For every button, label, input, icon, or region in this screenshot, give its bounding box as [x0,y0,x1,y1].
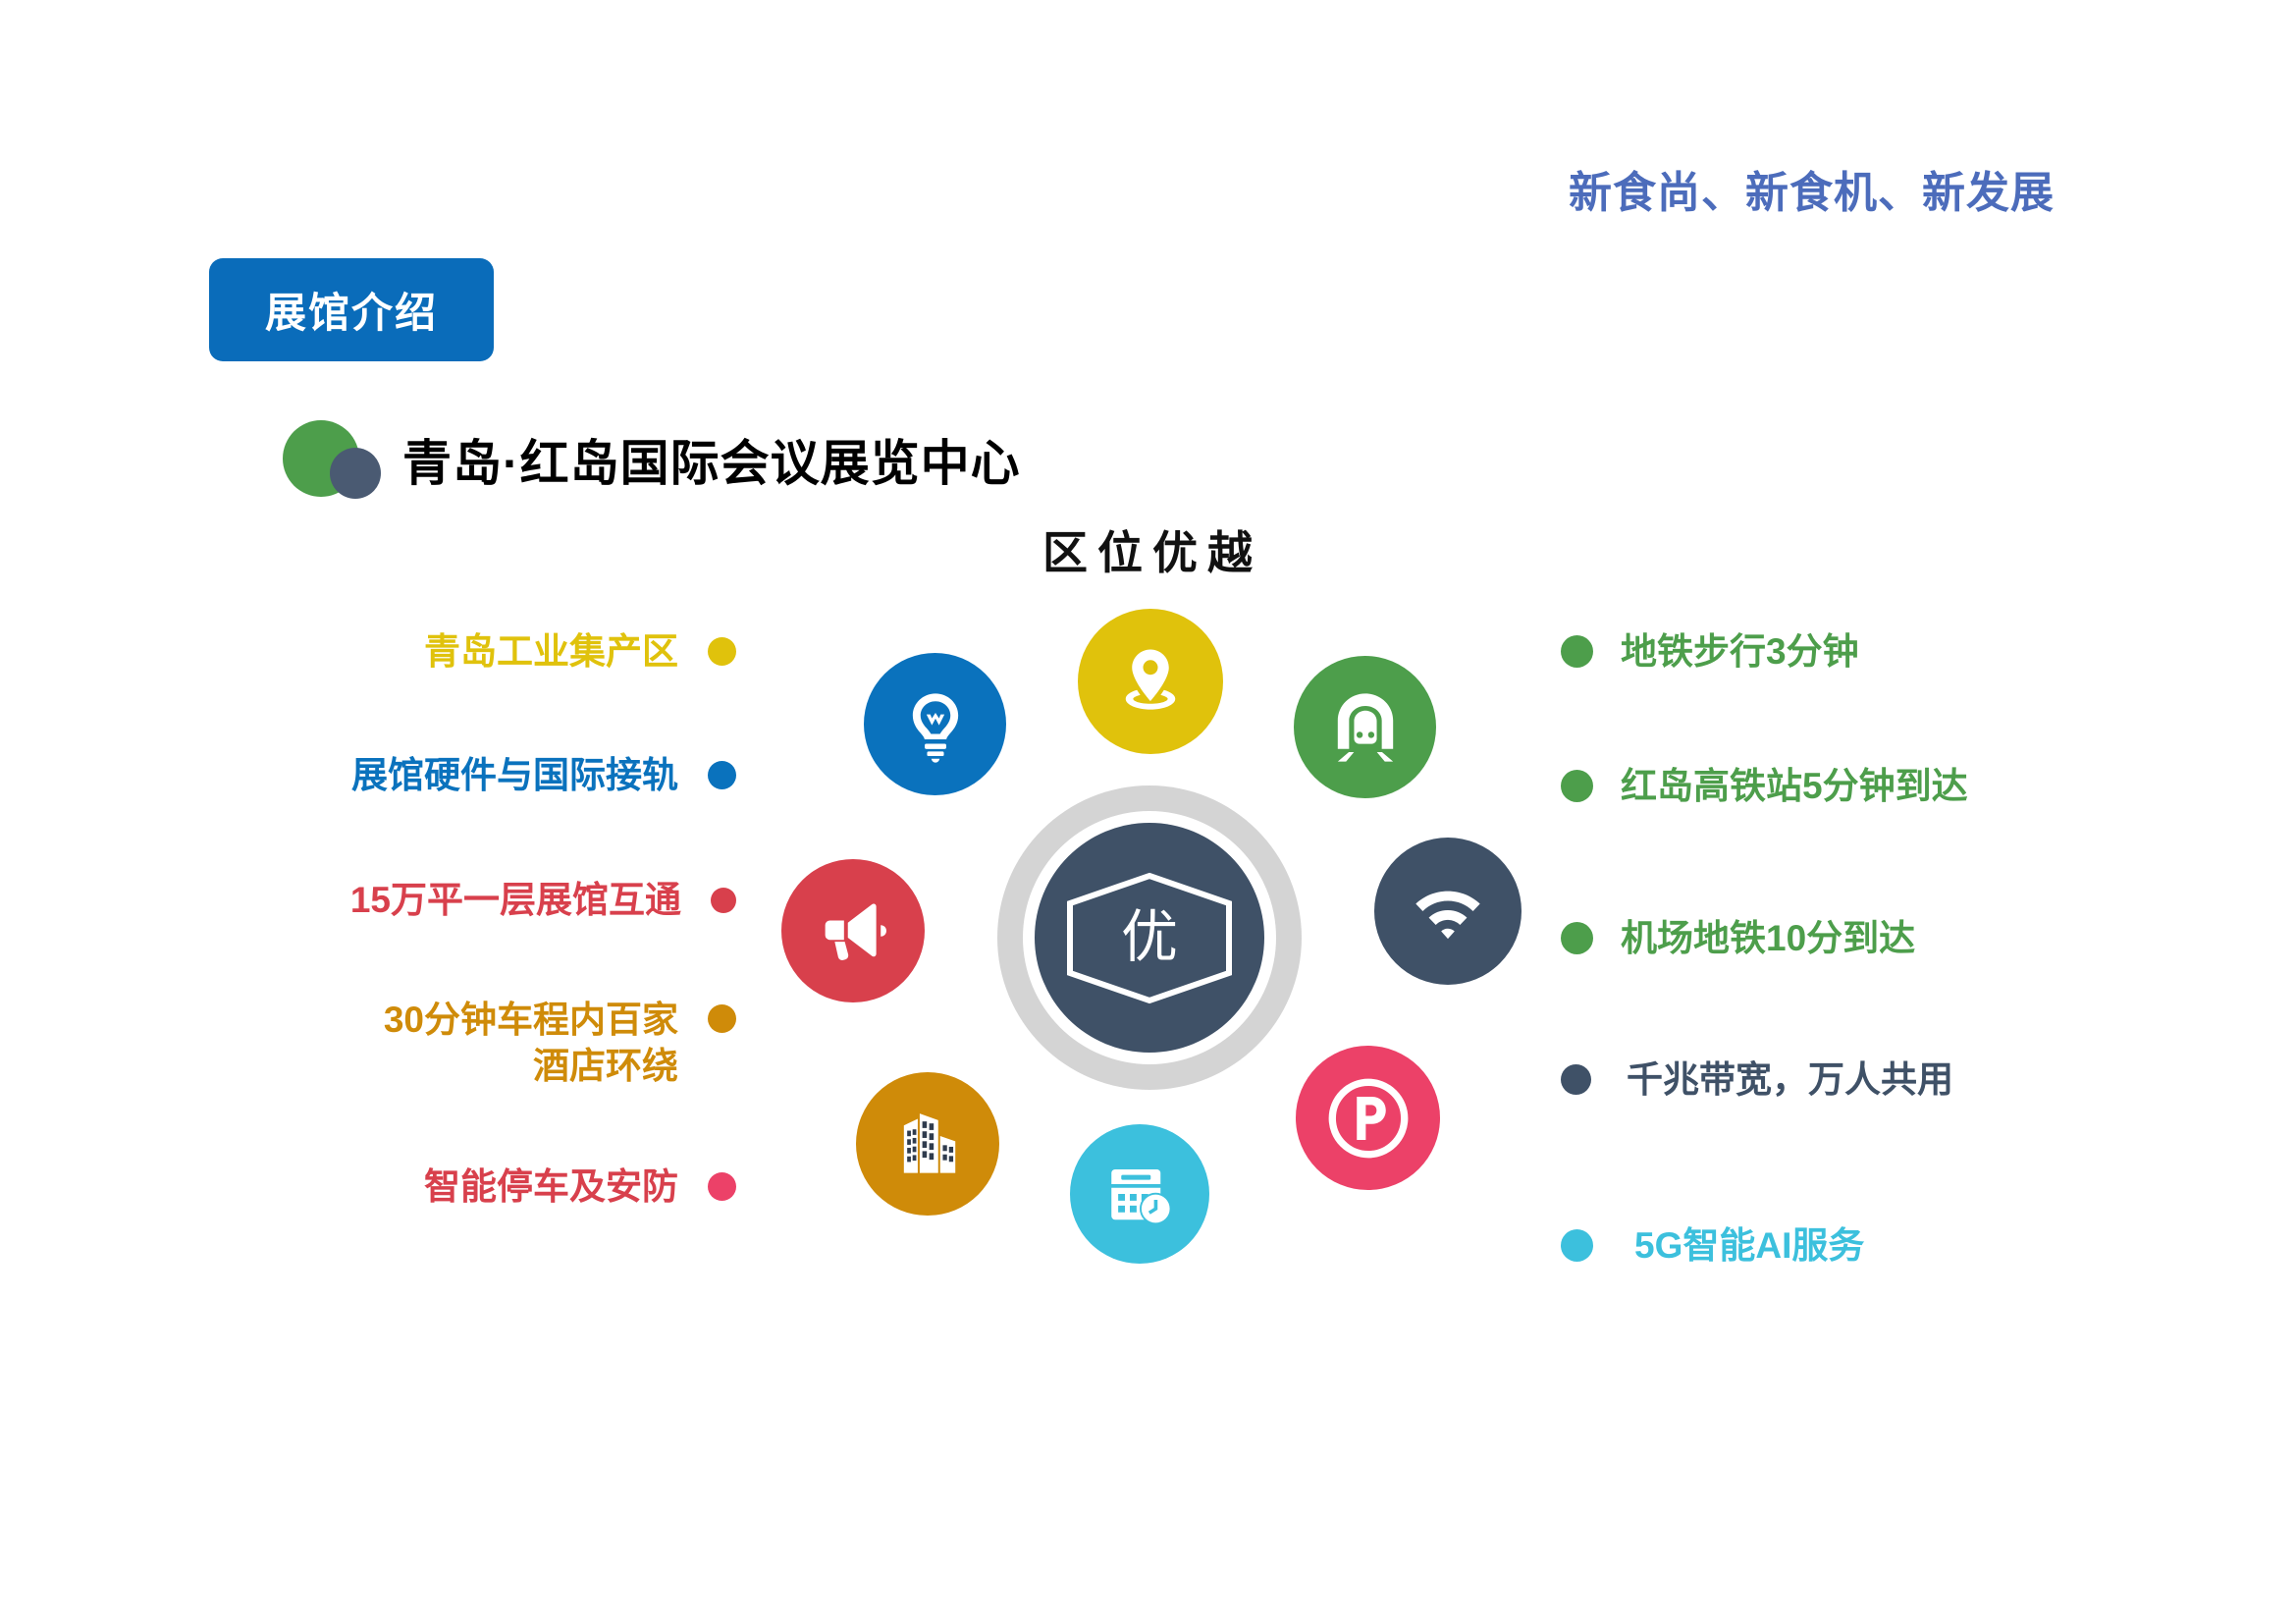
left-item-label-0: 青岛工业集产区 [424,628,678,675]
bullet-dot [1561,922,1593,954]
list-item[interactable]: 千兆带宽，万人共用 [1561,1056,1953,1103]
buildings-icon[interactable] [856,1072,999,1216]
logo-slate-circle [330,448,381,499]
list-item[interactable]: 红岛高铁站5分钟到达 [1561,763,1968,809]
right-item-label-1: 红岛高铁站5分钟到达 [1621,763,1968,809]
lightbulb-icon[interactable] [864,653,1006,795]
page-slogan: 新食尚、新食机、新发展 [1569,157,2055,220]
list-item[interactable]: 青岛工业集产区 [424,628,736,675]
left-item-label-4: 智能停车及安防 [424,1164,678,1210]
list-item[interactable]: 机场地铁10分到达 [1561,915,1915,961]
list-item[interactable]: 5G智能AI服务 [1561,1222,1864,1269]
hexagon-icon: 优 [1066,872,1233,1004]
calendar-clock-icon[interactable] [1070,1124,1209,1264]
location-pin-icon[interactable] [1078,609,1223,754]
bullet-dot [708,637,736,666]
venue-title-row: 青岛·红岛国际会议展览中心 [283,420,1021,499]
left-item-label-3-line1: 30分钟车程内百家 [384,1000,678,1040]
bullet-dot [1561,770,1593,802]
left-item-label-2: 15万平一层展馆互通 [350,877,681,923]
list-item[interactable]: 智能停车及安防 [424,1164,736,1210]
left-item-label-3-line2: 酒店环绕 [533,1046,678,1086]
right-item-label-2: 机场地铁10分到达 [1621,915,1915,961]
right-item-label-4: 5G智能AI服务 [1634,1222,1864,1269]
hub-core-circle: 优 [1035,823,1264,1053]
metro-train-icon[interactable] [1294,656,1436,798]
right-item-label-0: 地铁步行3分钟 [1621,628,1859,675]
list-item[interactable]: 15万平一层展馆互通 [350,877,736,923]
diagram-sub-heading: 区位优越 [1042,517,1262,582]
bullet-dot [708,1004,736,1033]
list-item[interactable]: 30分钟车程内百家 酒店环绕 [384,997,736,1090]
list-item[interactable]: 地铁步行3分钟 [1561,628,1859,675]
bullet-dot [708,1172,736,1201]
parking-icon[interactable] [1296,1046,1440,1190]
bullet-dot [1561,635,1593,668]
right-item-label-3: 千兆带宽，万人共用 [1627,1056,1953,1103]
center-hub: 优 [997,785,1302,1090]
left-item-label-1: 展馆硬件与国际接轨 [351,752,678,798]
left-item-label-3: 30分钟车程内百家 酒店环绕 [384,997,678,1090]
megaphone-icon[interactable] [781,859,925,1002]
section-badge[interactable]: 展馆介绍 [209,258,494,361]
bullet-dot [708,761,736,789]
bullet-dot [1561,1229,1593,1262]
bullet-dot [1561,1064,1591,1095]
hub-center-char: 优 [1121,909,1178,966]
venue-logo-icon [283,420,393,499]
list-item[interactable]: 展馆硬件与国际接轨 [351,752,736,798]
section-badge-label: 展馆介绍 [265,280,438,340]
venue-title: 青岛·红岛国际会议展览中心 [402,424,1021,495]
wifi-icon[interactable] [1374,838,1522,985]
bullet-dot [711,888,736,913]
